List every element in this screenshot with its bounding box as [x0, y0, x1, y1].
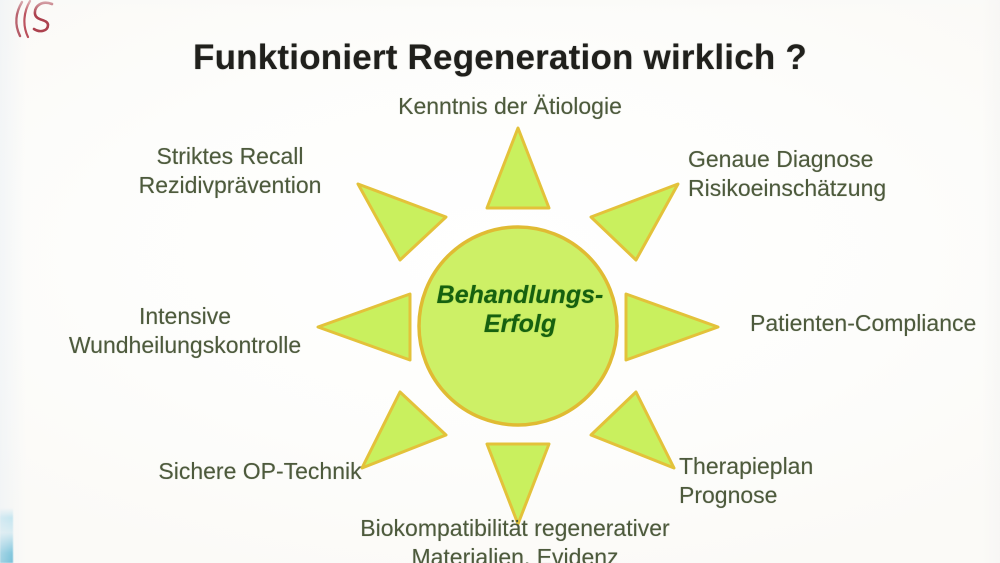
label-bottom-right-line-1: Therapieplan — [679, 452, 959, 481]
label-left-line-2: Wundheilungskontrolle — [40, 331, 330, 360]
label-top-left: Striktes Recall Rezidivprävention — [90, 142, 370, 199]
slide-canvas: Funktioniert Regeneration wirklich ? — [0, 0, 1000, 563]
label-right: Patienten-Compliance — [750, 309, 1000, 338]
label-bottom-left: Sichere OP-Technik — [115, 457, 405, 486]
label-top-right-line-2: Risikoeinschätzung — [688, 174, 988, 203]
ray-top — [487, 128, 549, 208]
ray-top-right — [591, 184, 678, 260]
left-edge-strip — [0, 508, 13, 563]
ray-bottom-right — [591, 392, 674, 468]
label-right-line-1: Patienten-Compliance — [750, 309, 1000, 338]
ray-bottom — [487, 444, 549, 524]
ray-left — [318, 294, 410, 360]
label-bottom: Biokompatibilität regenerativer Material… — [280, 514, 750, 563]
label-bottom-left-line-1: Sichere OP-Technik — [115, 457, 405, 486]
label-top-right-line-1: Genaue Diagnose — [688, 145, 988, 174]
label-top-left-line-1: Striktes Recall — [90, 142, 370, 171]
label-bottom-right-line-2: Prognose — [679, 481, 959, 510]
label-bottom-right: Therapieplan Prognose — [679, 452, 959, 509]
label-bottom-line-1: Biokompatibilität regenerativer — [280, 514, 750, 543]
label-bottom-line-2: Materialien, Evidenz — [280, 543, 750, 563]
label-left: Intensive Wundheilungskontrolle — [40, 302, 330, 359]
ray-right — [626, 294, 718, 360]
page-title: Funktioniert Regeneration wirklich ? — [0, 38, 1000, 78]
label-top: Kenntnis der Ätiologie — [330, 92, 690, 121]
ray-top-left — [358, 184, 446, 260]
center-circle — [419, 227, 617, 425]
label-top-right: Genaue Diagnose Risikoeinschätzung — [688, 145, 988, 202]
label-top-line-1: Kenntnis der Ätiologie — [330, 92, 690, 121]
label-top-left-line-2: Rezidivprävention — [90, 171, 370, 200]
label-left-line-1: Intensive — [40, 302, 330, 331]
